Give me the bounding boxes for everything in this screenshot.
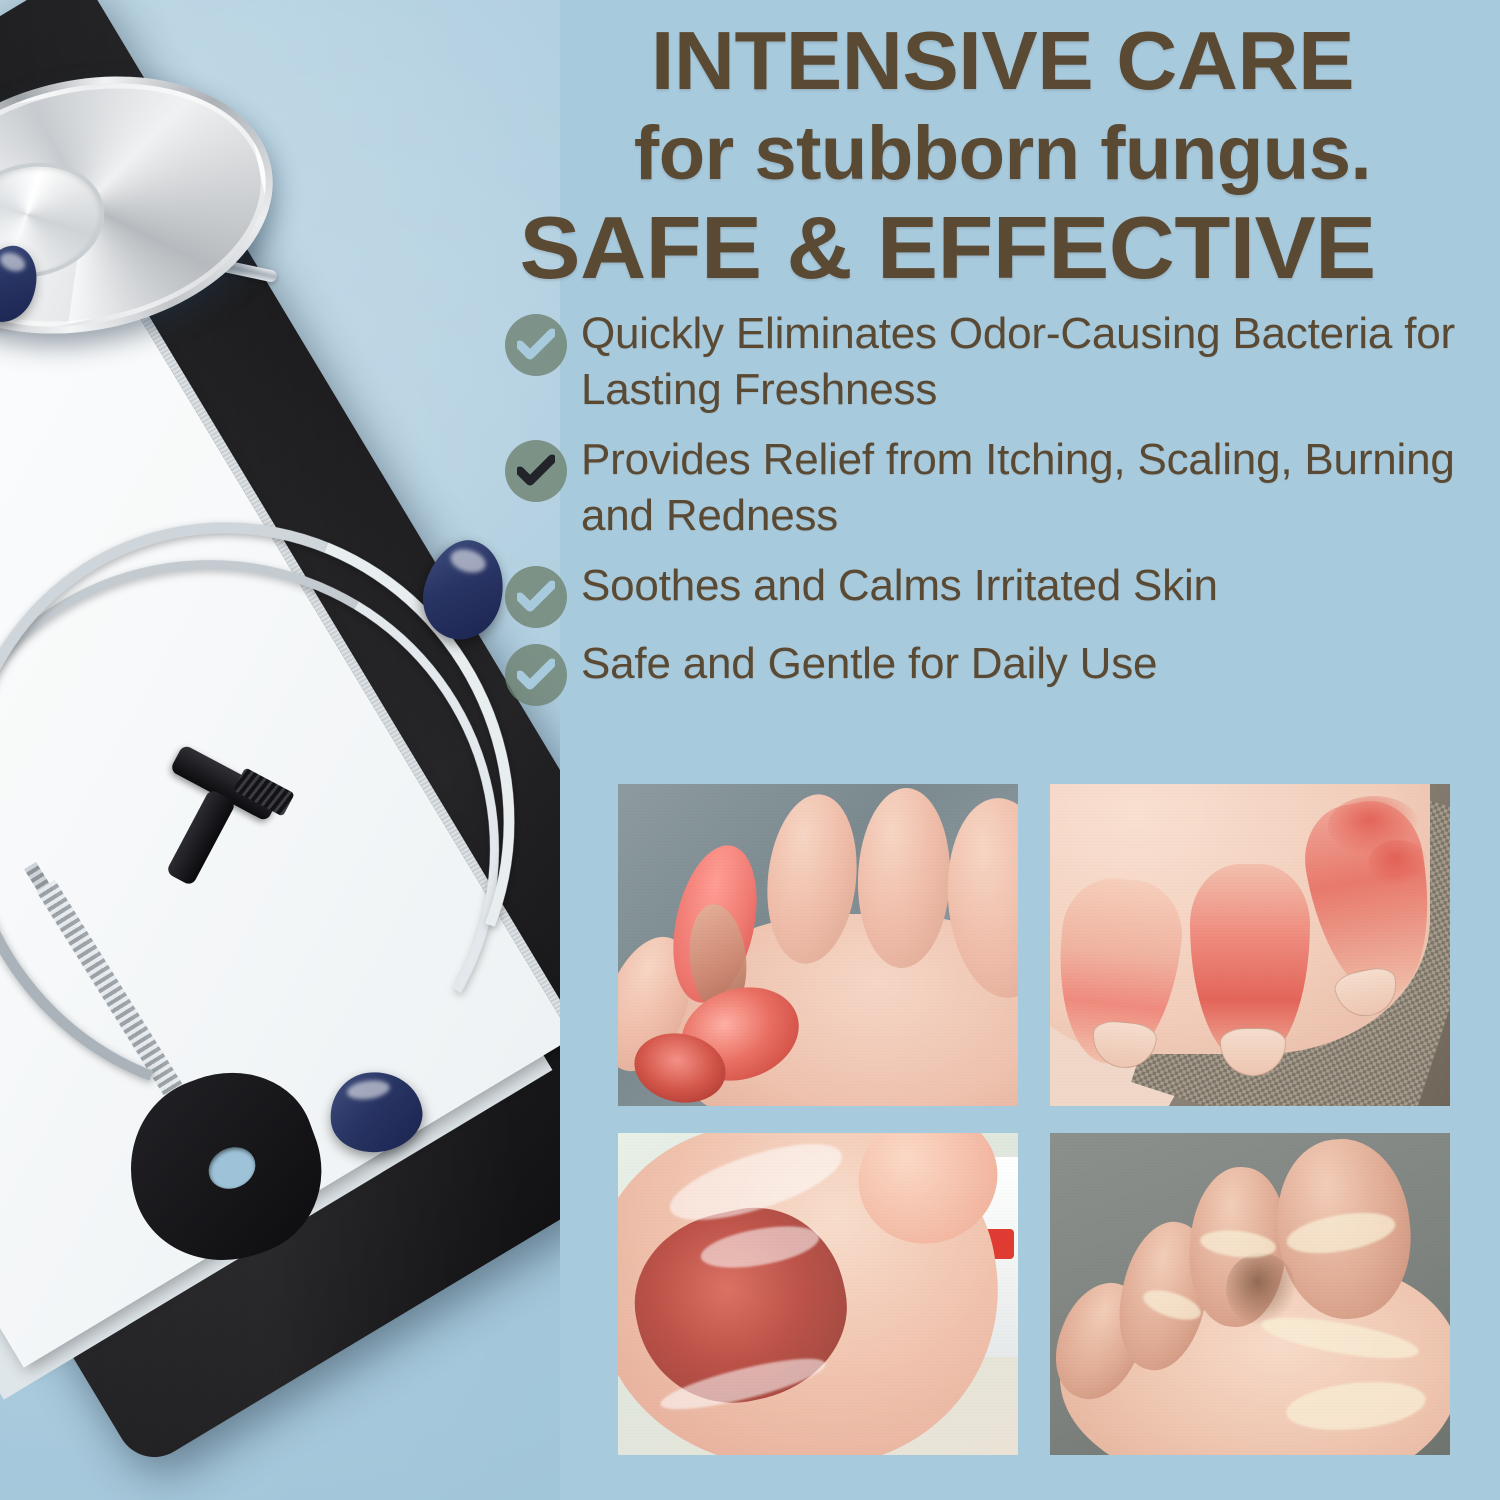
benefit-text: Quickly Eliminates Odor-Causing Bacteria… <box>581 304 1500 418</box>
check-wrap <box>505 634 581 706</box>
list-item: Provides Relief from Itching, Scaling, B… <box>505 430 1500 544</box>
stethoscope-on-clipboard-photo <box>0 0 560 1500</box>
eartip-highlight <box>448 546 489 577</box>
list-item: Safe and Gentle for Daily Use <box>505 634 1500 706</box>
check-wrap <box>505 556 581 628</box>
scaling-sole-rash-photo <box>618 1133 1018 1455</box>
eartip-highlight <box>346 1078 390 1101</box>
inflamed-toes-on-carpet-photo <box>1050 784 1450 1106</box>
condition-photo-grid <box>618 784 1450 1455</box>
headline-line-1: INTENSIVE CARE <box>495 0 1500 108</box>
dry-flaking-foot-photo <box>1050 1133 1450 1455</box>
check-icon <box>505 566 567 628</box>
check-wrap <box>505 430 581 502</box>
benefit-text: Provides Relief from Itching, Scaling, B… <box>581 430 1500 544</box>
headline-line-3: SAFE & EFFECTIVE <box>505 200 1500 296</box>
check-icon <box>505 440 567 502</box>
benefits-list: Quickly Eliminates Odor-Causing Bacteria… <box>505 304 1500 706</box>
check-wrap <box>505 304 581 376</box>
eartip-highlight <box>0 249 28 275</box>
redness-patch <box>1368 840 1428 886</box>
headline-line-2: for stubborn fungus. <box>505 108 1500 200</box>
check-icon <box>505 314 567 376</box>
list-item: Soothes and Calms Irritated Skin <box>505 556 1500 628</box>
page-title: INTENSIVE CARE for stubborn fungus. SAFE… <box>505 0 1500 296</box>
product-infographic: INTENSIVE CARE for stubborn fungus. SAFE… <box>0 0 1500 1500</box>
marketing-content: INTENSIVE CARE for stubborn fungus. SAFE… <box>505 0 1500 1500</box>
check-icon <box>505 644 567 706</box>
benefit-text: Safe and Gentle for Daily Use <box>581 634 1157 692</box>
benefit-text: Soothes and Calms Irritated Skin <box>581 556 1218 614</box>
discolored-skin <box>1226 1253 1296 1325</box>
list-item: Quickly Eliminates Odor-Causing Bacteria… <box>505 304 1500 418</box>
foot-sole-blisters-photo <box>618 784 1018 1106</box>
